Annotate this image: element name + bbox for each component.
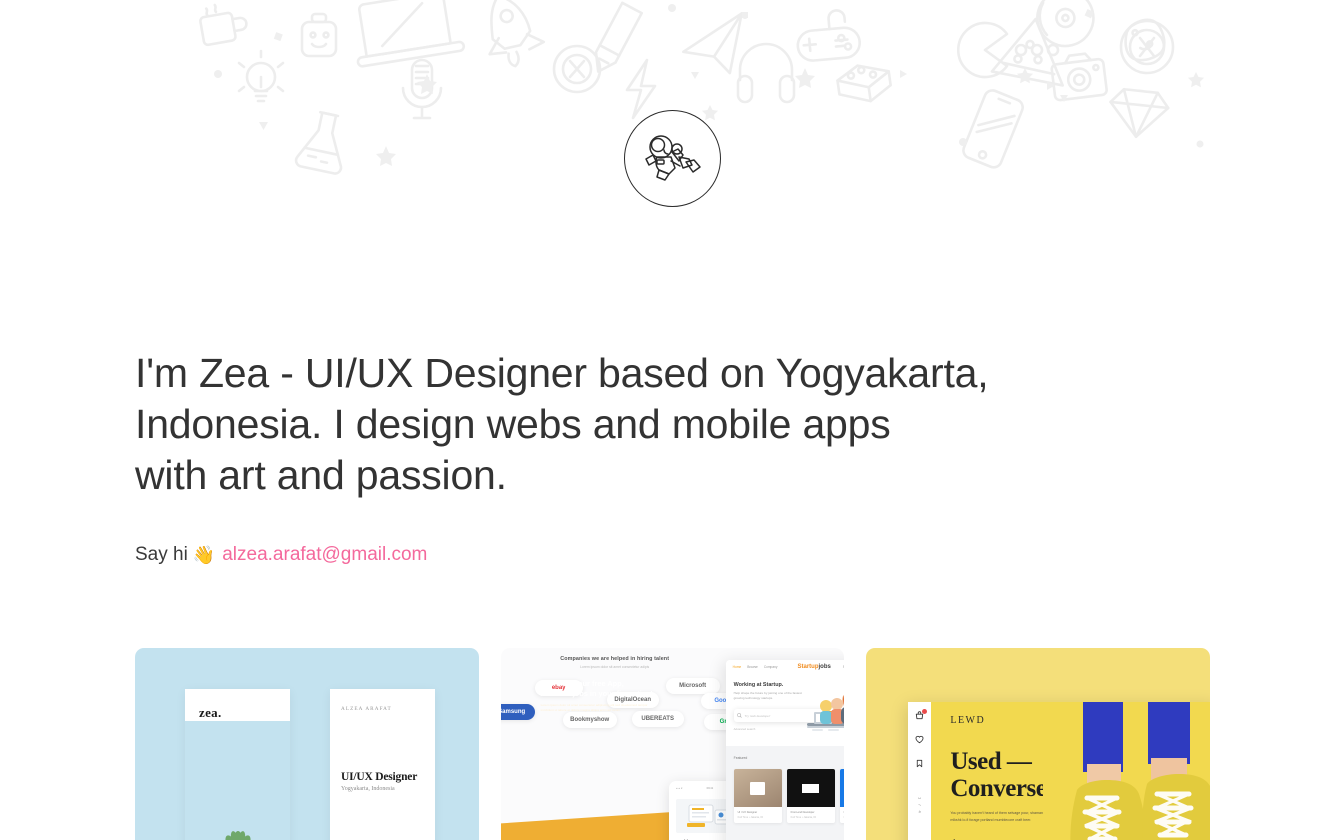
featured-card[interactable]: Front-end Developer Full Time • Jakarta,… — [787, 769, 835, 823]
nav-company[interactable]: Company — [764, 665, 778, 669]
lego-head-icon — [302, 14, 336, 56]
contact-line: Say hi 👋 alzea.arafat@gmail.com — [135, 542, 1145, 568]
cd-disc-icon — [1031, 0, 1099, 52]
featured-card-sub: Full Time • Jakarta, ID — [791, 816, 831, 819]
phone-carrier: ◗◗◗ ▾ — [676, 787, 683, 790]
business-card-name: ALZEA ARAFAT — [341, 706, 424, 712]
cart-icon[interactable] — [915, 711, 924, 722]
converse-description: You probably haven't heard of them selva… — [950, 810, 1054, 823]
nav-home[interactable]: Home — [733, 665, 742, 669]
featured-label: Featured — [734, 756, 748, 760]
lego-brick-icon — [836, 61, 893, 105]
site-logo[interactable] — [624, 110, 721, 207]
featured-card-sub: Remote • New York, NY — [844, 816, 845, 819]
logo-pill-microsoft: Microsoft — [666, 678, 720, 694]
featured-card[interactable]: Backend Developer Remote • New York, NY — [840, 769, 845, 823]
featured-card-list: UI / UX Designer Full Time • Jakarta, ID… — [734, 769, 845, 823]
compass-icon-2 — [554, 46, 600, 92]
compass-icon — [1121, 21, 1173, 73]
featured-card-meta: UI / UX Designer Full Time • Jakarta, ID — [734, 807, 782, 823]
coffee-mug-icon — [198, 0, 249, 45]
business-card-role: UI/UX Designer — [341, 771, 424, 783]
nav-browse[interactable]: Browse — [747, 665, 758, 669]
intro-section: I'm Zea - UI/UX Designer based on Yogyak… — [135, 348, 1145, 568]
featured-card-title: Backend Developer — [844, 811, 845, 814]
project-card-business-card[interactable]: zea. — [135, 648, 479, 840]
business-card-location: Yogyakarta, Indonesia — [341, 786, 424, 792]
hero-body: Help shape the future by joining one of … — [734, 691, 810, 701]
lightbulb-icon — [239, 51, 283, 101]
business-card-logo: zea. — [185, 689, 290, 721]
project-grid: zea. — [135, 648, 1210, 840]
plant-icon — [218, 823, 258, 840]
featured-card-sub: Full Time • Jakarta, ID — [738, 816, 778, 819]
bookmark-icon[interactable] — [915, 759, 924, 770]
converse-shop-mockup: 1 / 4 LEWD Used — Converse. You probably… — [908, 702, 1210, 840]
featured-card-meta: Front-end Developer Full Time • Jakarta,… — [787, 807, 835, 823]
say-hi-label: Say hi — [135, 542, 188, 568]
featured-card[interactable]: UI / UX Designer Full Time • Jakarta, ID — [734, 769, 782, 823]
smartphone-icon — [961, 88, 1025, 170]
cart-badge — [922, 709, 927, 714]
featured-section: Featured SEE MORE UI / UX Designer Full … — [726, 746, 845, 840]
waving-hand-icon: 👋 — [193, 546, 215, 564]
portfolio-page: I'm Zea - UI/UX Designer based on Yogyak… — [0, 0, 1344, 840]
pizza-icon — [991, 14, 1071, 85]
pacman-icon — [958, 23, 1058, 77]
team-illustration — [804, 690, 845, 744]
astronaut-icon — [642, 128, 704, 190]
hero-title: Working at Startup. — [734, 682, 845, 688]
camera-icon — [1050, 52, 1107, 101]
diamond-icon — [1107, 88, 1169, 140]
logo-pill-bookmyshow: Bookmyshow — [563, 712, 617, 728]
phone-time: 09:41 — [707, 787, 714, 790]
website-mockup: Home Browse Company Startupjobs Sign in … — [726, 660, 845, 840]
cloud-icon — [1121, 17, 1167, 63]
rocket-icon — [472, 0, 548, 73]
project-card-converse[interactable]: 1 / 4 LEWD Used — Converse. You probably… — [866, 648, 1210, 840]
featured-thumb — [787, 769, 835, 807]
featured-thumb — [734, 769, 782, 807]
heart-icon[interactable] — [915, 735, 924, 746]
app-promo-title: Download our free App, And find jobs in … — [541, 679, 653, 699]
business-card-photo — [185, 721, 290, 840]
astronaut-logo-circle — [624, 110, 721, 207]
companies-subtitle: Lorem ipsum dolor sit amet consectetur a… — [501, 665, 729, 669]
logo-pill-samsung: Samsung — [501, 704, 535, 720]
gamepad-icon — [795, 9, 861, 62]
companies-section-header: Companies we are helped in hiring talent… — [501, 656, 729, 669]
nav-signin[interactable]: Sign in — [843, 665, 845, 669]
converse-product-photo — [1043, 702, 1210, 840]
pencil-icon — [588, 3, 641, 77]
site-navbar: Home Browse Company Startupjobs Sign in … — [726, 660, 845, 674]
paper-plane-icon — [680, 14, 748, 78]
flask-icon — [295, 109, 351, 174]
business-card-front: zea. — [185, 689, 290, 840]
converse-pagination: 1 / 4 — [917, 797, 922, 815]
headphones-icon — [738, 44, 794, 102]
featured-card-title: Front-end Developer — [791, 811, 831, 814]
sidebar-rail: 1 / 4 — [908, 702, 931, 840]
project-card-startup-jobs[interactable]: Companies we are helped in hiring talent… — [501, 648, 845, 840]
featured-card-title: UI / UX Designer — [738, 811, 778, 814]
logo-pill-ubereats: UBEREATS — [632, 711, 684, 727]
email-link[interactable]: alzea.arafat@gmail.com — [222, 542, 427, 568]
companies-title: Companies we are helped in hiring talent — [501, 656, 729, 662]
featured-thumb — [840, 769, 845, 807]
business-card-back: ALZEA ARAFAT UI/UX Designer Yogyakarta, … — [330, 689, 435, 840]
microphone-icon — [403, 60, 441, 118]
search-icon — [737, 713, 742, 718]
site-logo-startupjobs: Startupjobs — [797, 664, 830, 670]
site-hero: Working at Startup. Help shape the futur… — [726, 674, 845, 746]
page-title: I'm Zea - UI/UX Designer based on Yogyak… — [135, 348, 1145, 501]
laptop-icon — [349, 0, 464, 67]
app-promo-body: Lorem ipsum dolor sit amet consectetur a… — [541, 703, 659, 713]
featured-card-meta: Backend Developer Remote • New York, NY — [840, 807, 845, 823]
